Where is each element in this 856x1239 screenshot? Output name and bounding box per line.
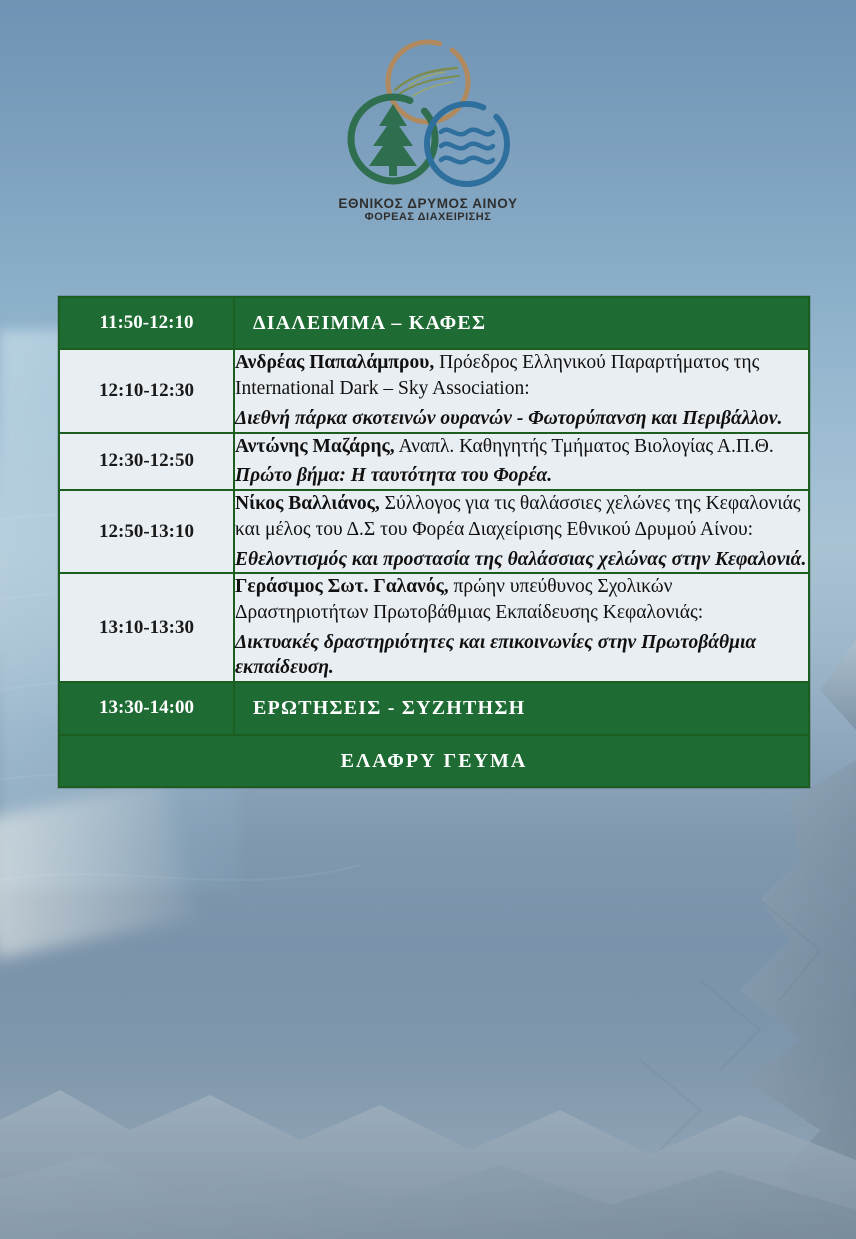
- row-time: 12:30-12:50: [59, 433, 234, 490]
- logo-title: ΕΘΝΙΚΟΣ ΔΡΥΜΟΣ ΑΙΝΟΥ: [338, 196, 517, 211]
- speaker-name: Γεράσιμος Σωτ. Γαλανός,: [235, 576, 449, 597]
- talk-title: Πρώτο βήμα: Η ταυτότητα του Φορέα.: [235, 463, 808, 489]
- speaker-name: Νίκος Βαλλιάνος,: [235, 493, 380, 514]
- table-row: 12:50-13:10 Νίκος Βαλλιάνος, Σύλλογος γι…: [59, 490, 809, 573]
- row-paragraph: Αντώνης Μαζάρης, Αναπλ. Καθηγητής Τμήματ…: [235, 434, 808, 460]
- table-row: 13:10-13:30 Γεράσιμος Σωτ. Γαλανός, πρώη…: [59, 573, 809, 682]
- fir-tree-icon: [351, 97, 435, 181]
- row-paragraph: Ανδρέας Παπαλάμπρου, Πρόεδρος Ελληνικού …: [235, 350, 808, 401]
- table-row: 13:30-14:00 ΕΡΩΤΗΣΕΙΣ - ΣΥΖΗΤΗΣΗ: [59, 682, 809, 734]
- program-schedule-table: 11:50-12:10 ΔΙΑΛΕΙΜΜΑ – ΚΑΦΕΣ 12:10-12:3…: [58, 296, 810, 788]
- table-row: 12:10-12:30 Ανδρέας Παπαλάμπρου, Πρόεδρο…: [59, 349, 809, 432]
- table-row: 12:30-12:50 Αντώνης Μαζάρης, Αναπλ. Καθη…: [59, 433, 809, 490]
- program-table-body: 11:50-12:10 ΔΙΑΛΕΙΜΜΑ – ΚΑΦΕΣ 12:10-12:3…: [59, 297, 809, 787]
- row-content: Αντώνης Μαζάρης, Αναπλ. Καθηγητής Τμήματ…: [234, 433, 809, 490]
- row-content: Ανδρέας Παπαλάμπρου, Πρόεδρος Ελληνικού …: [234, 349, 809, 432]
- water-waves-icon: [427, 104, 507, 184]
- row-paragraph: Γεράσιμος Σωτ. Γαλανός, πρώην υπεύθυνος …: [235, 574, 808, 625]
- logo-text: ΕΘΝΙΚΟΣ ΔΡΥΜΟΣ ΑΙΝΟΥ ΦΟΡΕΑΣ ΔΙΑΧΕΙΡΙΣΗΣ: [338, 196, 517, 223]
- row-time: 13:10-13:30: [59, 573, 234, 682]
- speaker-name: Ανδρέας Παπαλάμπρου,: [235, 352, 434, 373]
- row-title: ΕΡΩΤΗΣΕΙΣ - ΣΥΖΗΤΗΣΗ: [234, 682, 809, 734]
- table-row: 11:50-12:10 ΔΙΑΛΕΙΜΜΑ – ΚΑΦΕΣ: [59, 297, 809, 349]
- row-content: Νίκος Βαλλιάνος, Σύλλογος για τις θαλάσσ…: [234, 490, 809, 573]
- row-time: 12:50-13:10: [59, 490, 234, 573]
- row-title: ΔΙΑΛΕΙΜΜΑ – ΚΑΦΕΣ: [234, 297, 809, 349]
- row-title: ΕΛΑΦΡΥ ΓΕΥΜΑ: [59, 735, 809, 787]
- row-time: 12:10-12:30: [59, 349, 234, 432]
- talk-title: Διεθνή πάρκα σκοτεινών ουρανών - Φωτορύπ…: [235, 406, 808, 432]
- row-content: Γεράσιμος Σωτ. Γαλανός, πρώην υπεύθυνος …: [234, 573, 809, 682]
- talk-title: Δικτυακές δραστηριότητες και επικοινωνίε…: [235, 630, 808, 681]
- organization-logo: ΕΘΝΙΚΟΣ ΔΡΥΜΟΣ ΑΙΝΟΥ ΦΟΡΕΑΣ ΔΙΑΧΕΙΡΙΣΗΣ: [0, 34, 856, 223]
- row-time: 11:50-12:10: [59, 297, 234, 349]
- speaker-affiliation: Αναπλ. Καθηγητής Τμήματος Βιολογίας Α.Π.…: [395, 436, 774, 457]
- talk-title: Εθελοντισμός και προστασία της θαλάσσιας…: [235, 547, 808, 573]
- row-paragraph: Νίκος Βαλλιάνος, Σύλλογος για τις θαλάσσ…: [235, 491, 808, 542]
- speaker-name: Αντώνης Μαζάρης,: [235, 436, 395, 457]
- logo-subtitle: ΦΟΡΕΑΣ ΔΙΑΧΕΙΡΙΣΗΣ: [338, 211, 517, 223]
- logo-graphic: [321, 34, 535, 194]
- row-time: 13:30-14:00: [59, 682, 234, 734]
- table-row: ΕΛΑΦΡΥ ΓΕΥΜΑ: [59, 735, 809, 787]
- logo-mark: [321, 34, 535, 194]
